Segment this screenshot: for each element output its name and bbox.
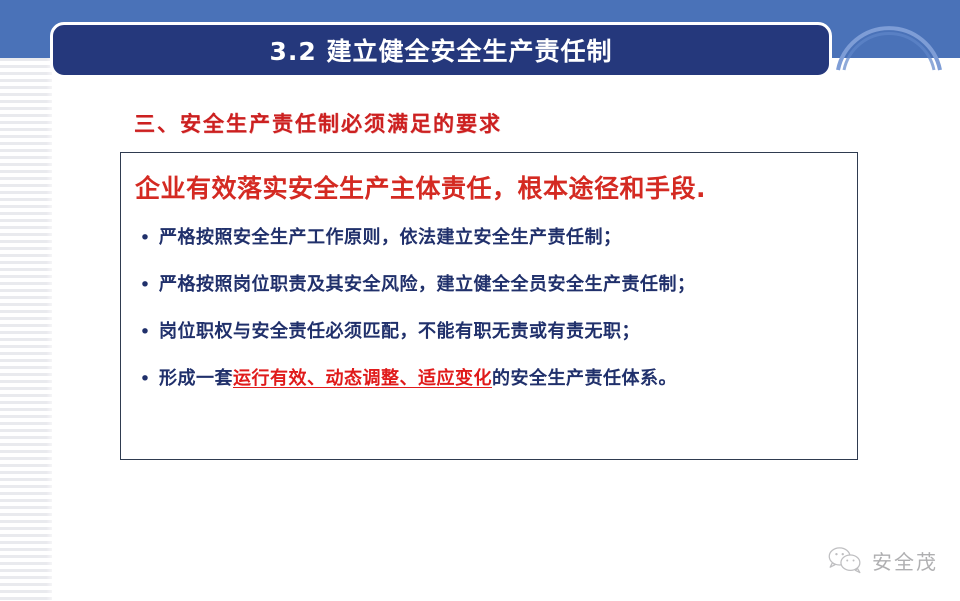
- list-item: • 严格按照岗位职责及其安全风险，建立健全全员安全生产责任制；: [131, 272, 847, 319]
- section-heading: 三、安全生产责任制必须满足的要求: [134, 108, 502, 138]
- list-item-label: 严格按照岗位职责及其安全风险，建立健全全员安全生产责任制；: [159, 272, 696, 298]
- bullet-dot-icon: •: [131, 272, 159, 298]
- list-item: • 形成一套运行有效、动态调整、适应变化的安全生产责任体系。: [131, 366, 847, 413]
- left-stripes-fade: [46, 58, 62, 601]
- lead-statement: 企业有效落实安全生产主体责任，根本途径和手段.: [135, 169, 706, 205]
- list-item: • 严格按照安全生产工作原则，依法建立安全生产责任制；: [131, 225, 847, 272]
- text-run: 严格按照安全生产工作原则，依法建立安全生产责任制；: [159, 227, 622, 248]
- text-run: 形成一套: [159, 368, 233, 389]
- left-stripes-decoration: [0, 58, 52, 601]
- list-item: • 岗位职权与安全责任必须匹配，不能有职无责或有责无职；: [131, 319, 847, 366]
- arc-decoration-icon: [834, 0, 944, 72]
- list-item-label: 严格按照安全生产工作原则，依法建立安全生产责任制；: [159, 225, 622, 251]
- slide-title-bar: 3.2 建立健全安全生产责任制: [50, 22, 832, 78]
- slide-canvas: 3.2 建立健全安全生产责任制 三、安全生产责任制必须满足的要求 企业有效落实安…: [0, 0, 960, 601]
- bullet-dot-icon: •: [131, 319, 159, 345]
- list-item-label: 岗位职权与安全责任必须匹配，不能有职无责或有责无职；: [159, 319, 640, 345]
- wechat-icon: [827, 545, 863, 575]
- bullet-dot-icon: •: [131, 366, 159, 392]
- list-item-label: 形成一套运行有效、动态调整、适应变化的安全生产责任体系。: [159, 366, 677, 392]
- text-run-emphasis: 运行有效、动态调整、适应变化: [233, 368, 492, 389]
- page-title: 3.2 建立健全安全生产责任制: [270, 32, 613, 68]
- bullet-list: • 严格按照安全生产工作原则，依法建立安全生产责任制； • 严格按照岗位职责及其…: [131, 225, 847, 413]
- bullet-dot-icon: •: [131, 225, 159, 251]
- watermark: 安全茂: [827, 545, 938, 575]
- text-run: 严格按照岗位职责及其安全风险，建立健全全员安全生产责任制；: [159, 274, 696, 295]
- watermark-label: 安全茂: [872, 546, 938, 575]
- text-run: 的安全生产责任体系。: [492, 368, 677, 389]
- content-box: 企业有效落实安全生产主体责任，根本途径和手段. • 严格按照安全生产工作原则，依…: [120, 152, 858, 460]
- text-run: 岗位职权与安全责任必须匹配，不能有职无责或有责无职；: [159, 321, 640, 342]
